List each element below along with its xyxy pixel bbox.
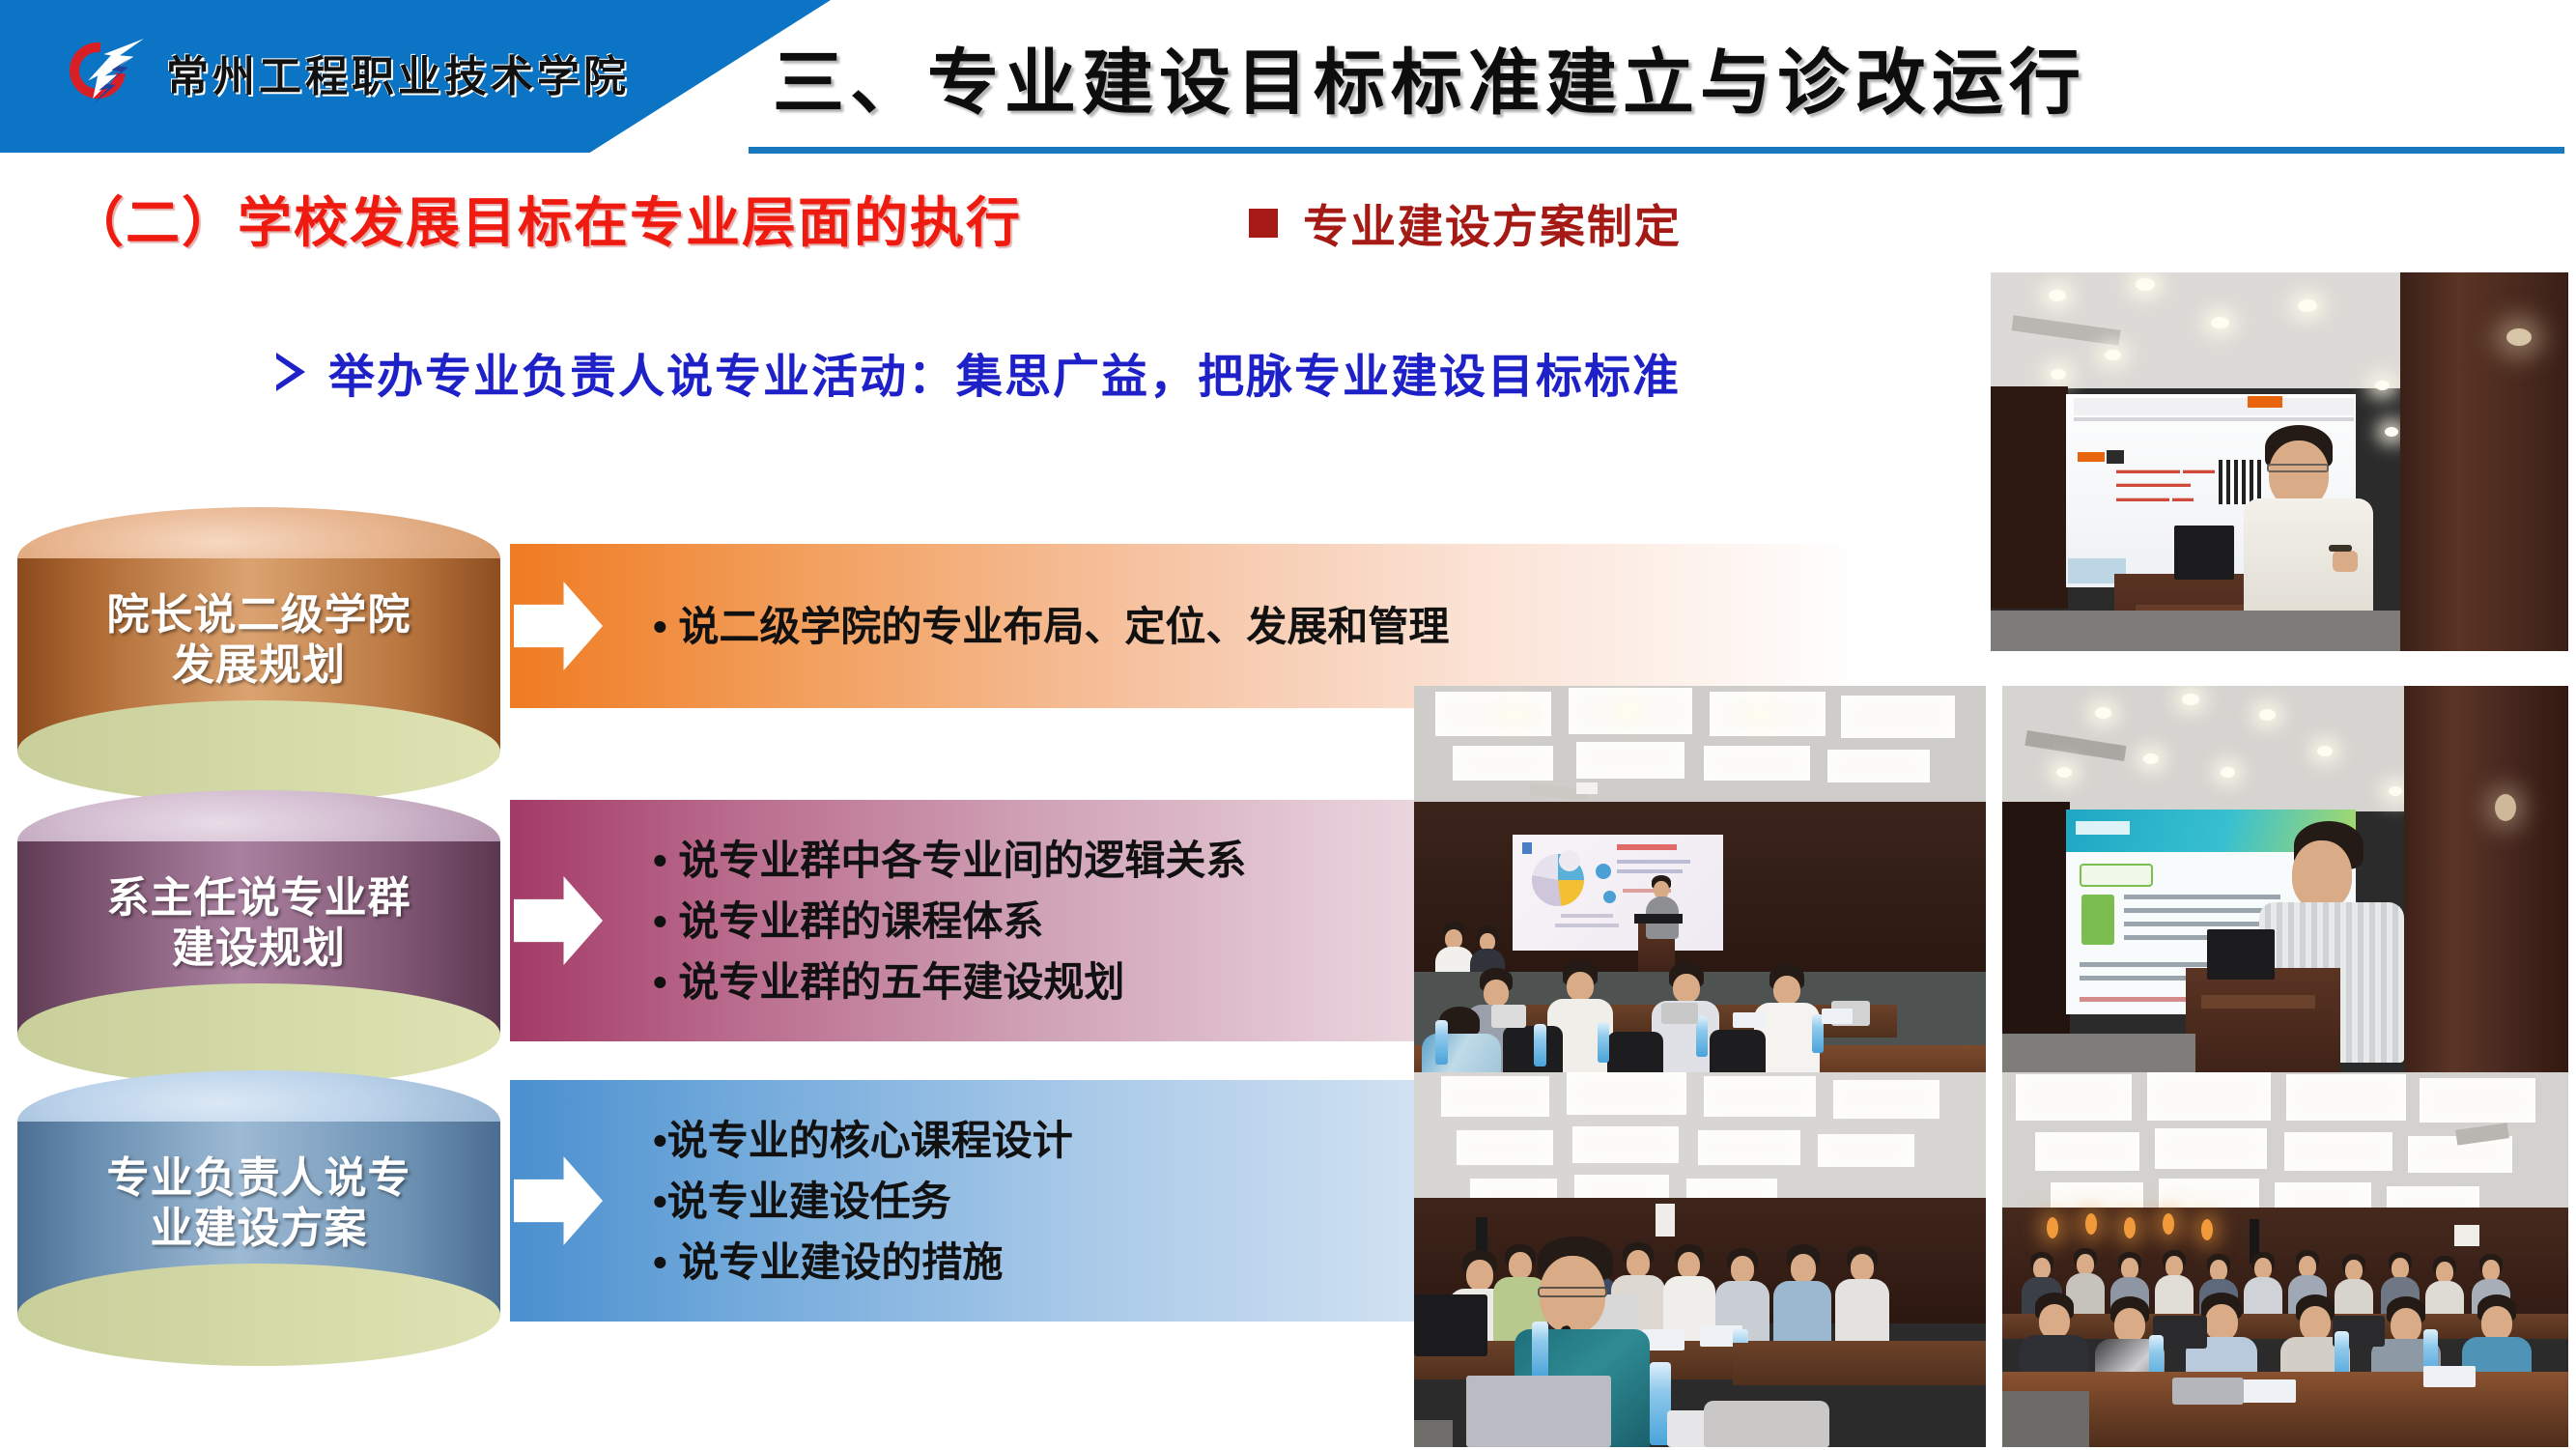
photo-full-audience-hall [2002,1072,2568,1447]
cylinder-3-label: 专业负责人说专 业建设方案 [17,1153,500,1254]
cylinder-3-bottom [17,1264,500,1366]
school-logo: 常州工程职业技术学院 [68,37,630,108]
cylinder-2-label: 系主任说专业群 建设规划 [17,873,500,974]
cylinder-1-label-line2: 发展规划 [17,640,500,691]
section-heading: （二）学校发展目标在专业层面的执行 [70,180,1022,258]
cylinder-3-label-line2: 业建设方案 [17,1204,500,1254]
subheading-label: 专业建设方案制定 [1303,189,1682,256]
square-bullet-icon [1249,209,1278,238]
photo-attendee-speaking-foreground [1414,1072,1986,1447]
cylinder-3-label-line1: 专业负责人说专 [17,1153,500,1204]
cylinder-1-label: 院长说二级学院 发展规划 [17,590,500,691]
page-title: 三、专业建设目标标准建立与诊改运行 [773,25,2511,128]
subtitle-row: （二）学校发展目标在专业层面的执行 专业建设方案制定 [0,180,2576,257]
activity-statement-text: 举办专业负责人说专业活动：集思广益，把脉专业建设目标标准 [328,338,1681,406]
band-1-bullet-1: • 说二级学院的专业布局、定位、发展和管理 [653,596,1619,657]
cylinder-1-label-line1: 院长说二级学院 [17,590,500,640]
band-1-bullets: • 说二级学院的专业布局、定位、发展和管理 [653,544,1619,708]
photo-speaker-podium-white-shirt: ▬▬▬▬▬▬ ▬▬▬ ▬▬▬▬▬▬▬ ▬▬▬▬▬ ▬▬ [1991,272,2568,651]
activity-statement: 举办专业负责人说专业活动：集思广益，把脉专业建设目标标准 [276,338,1681,406]
photo-speaker-podium-striped-shirt [2002,686,2568,1084]
university-crest-icon [68,37,149,108]
slide-header: 常州工程职业技术学院 三、专业建设目标标准建立与诊改运行 [0,0,2576,155]
header-divider [749,147,2564,154]
school-logo-text: 常州工程职业技术学院 [166,42,630,103]
arrow-bullet-icon [276,353,305,391]
photo-audience-presentation-screen [1414,686,1986,1084]
band-1: • 说二级学院的专业布局、定位、发展和管理 [510,544,1862,708]
subheading-group: 专业建设方案制定 [1249,189,1682,256]
cylinder-2-label-line2: 建设规划 [17,924,500,974]
cylinder-2-label-line1: 系主任说专业群 [17,873,500,924]
